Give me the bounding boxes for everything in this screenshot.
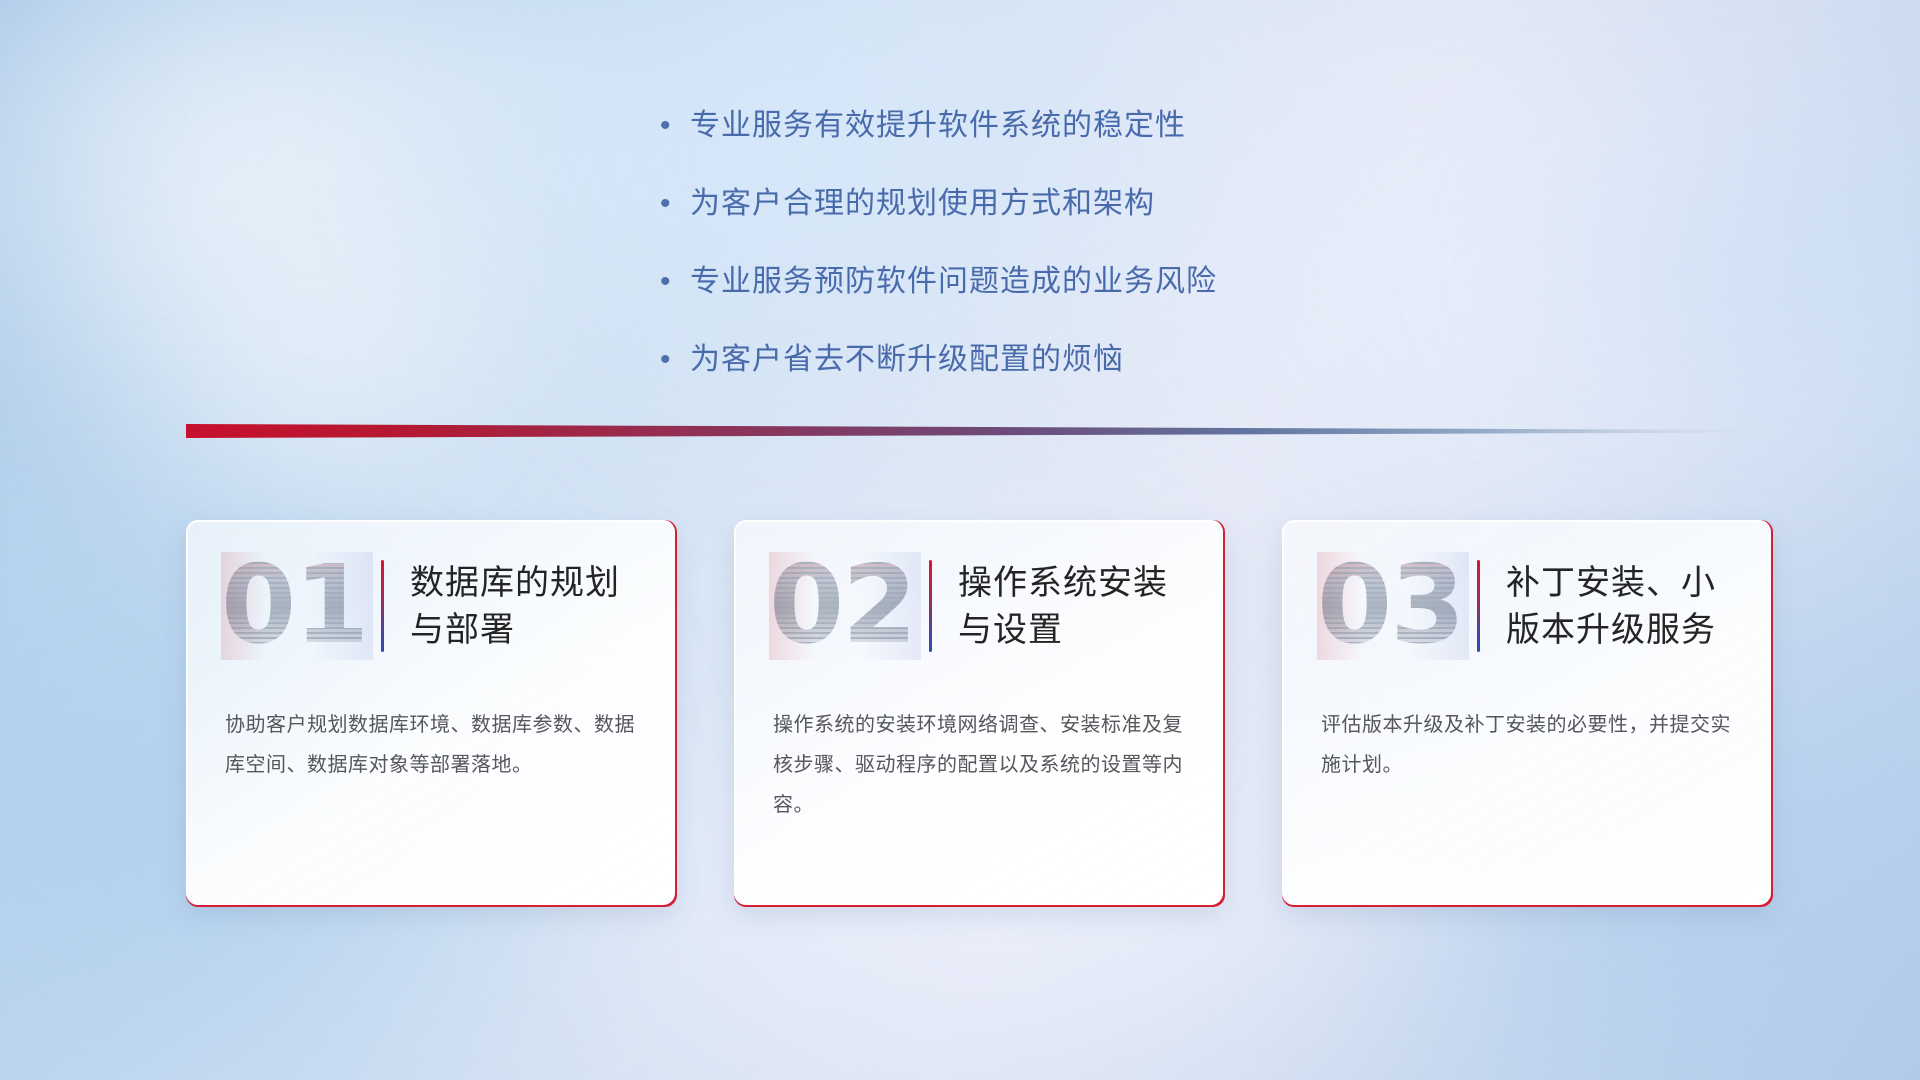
list-item: • 专业服务有效提升软件系统的稳定性	[660, 106, 1520, 146]
card-number-wrap: 03	[1317, 552, 1469, 660]
bullet-dot-icon: •	[660, 340, 690, 380]
card-title: 数据库的规划与部署	[410, 558, 641, 654]
card-body-text: 操作系统的安装环境网络调查、安装标准及复核步骤、驱动程序的配置以及系统的设置等内…	[735, 669, 1223, 825]
card-title-separator	[929, 560, 932, 652]
card-header: 02 操作系统安装与设置	[735, 521, 1223, 669]
service-card-list: 01 数据库的规划与部署 协助客户规划数据库环境、数据库参数、数据库空间、数据库…	[186, 520, 1746, 910]
card-number-wrap: 01	[221, 552, 373, 660]
card-number: 01	[221, 552, 369, 660]
card-number-wrap: 02	[769, 552, 921, 660]
list-item: • 为客户合理的规划使用方式和架构	[660, 184, 1520, 224]
card-number: 03	[1317, 552, 1465, 660]
service-card[interactable]: 03 补丁安装、小版本升级服务 评估版本升级及补丁安装的必要性，并提交实施计划。	[1282, 520, 1771, 905]
card-body-text: 评估版本升级及补丁安装的必要性，并提交实施计划。	[1283, 669, 1771, 785]
benefits-bullet-list: • 专业服务有效提升软件系统的稳定性 • 为客户合理的规划使用方式和架构 • 专…	[660, 106, 1520, 418]
card-number: 02	[769, 552, 917, 660]
service-card[interactable]: 02 操作系统安装与设置 操作系统的安装环境网络调查、安装标准及复核步骤、驱动程…	[734, 520, 1223, 905]
card-title-separator	[381, 560, 384, 652]
card-header: 01 数据库的规划与部署	[187, 521, 675, 669]
card-title: 补丁安装、小版本升级服务	[1506, 558, 1737, 654]
list-item: • 为客户省去不断升级配置的烦恼	[660, 340, 1520, 380]
bullet-text: 为客户省去不断升级配置的烦恼	[690, 340, 1124, 380]
card-body-text: 协助客户规划数据库环境、数据库参数、数据库空间、数据库对象等部署落地。	[187, 669, 675, 785]
bullet-text: 专业服务预防软件问题造成的业务风险	[690, 262, 1217, 302]
bullet-dot-icon: •	[660, 106, 690, 146]
section-divider	[186, 424, 1746, 438]
card-title-separator	[1477, 560, 1480, 652]
bullet-dot-icon: •	[660, 184, 690, 224]
card-header: 03 补丁安装、小版本升级服务	[1283, 521, 1771, 669]
bullet-text: 专业服务有效提升软件系统的稳定性	[690, 106, 1186, 146]
bullet-dot-icon: •	[660, 262, 690, 302]
card-title: 操作系统安装与设置	[958, 558, 1189, 654]
bullet-text: 为客户合理的规划使用方式和架构	[690, 184, 1155, 224]
service-card[interactable]: 01 数据库的规划与部署 协助客户规划数据库环境、数据库参数、数据库空间、数据库…	[186, 520, 675, 905]
list-item: • 专业服务预防软件问题造成的业务风险	[660, 262, 1520, 302]
divider-gradient-bar	[186, 424, 1746, 438]
